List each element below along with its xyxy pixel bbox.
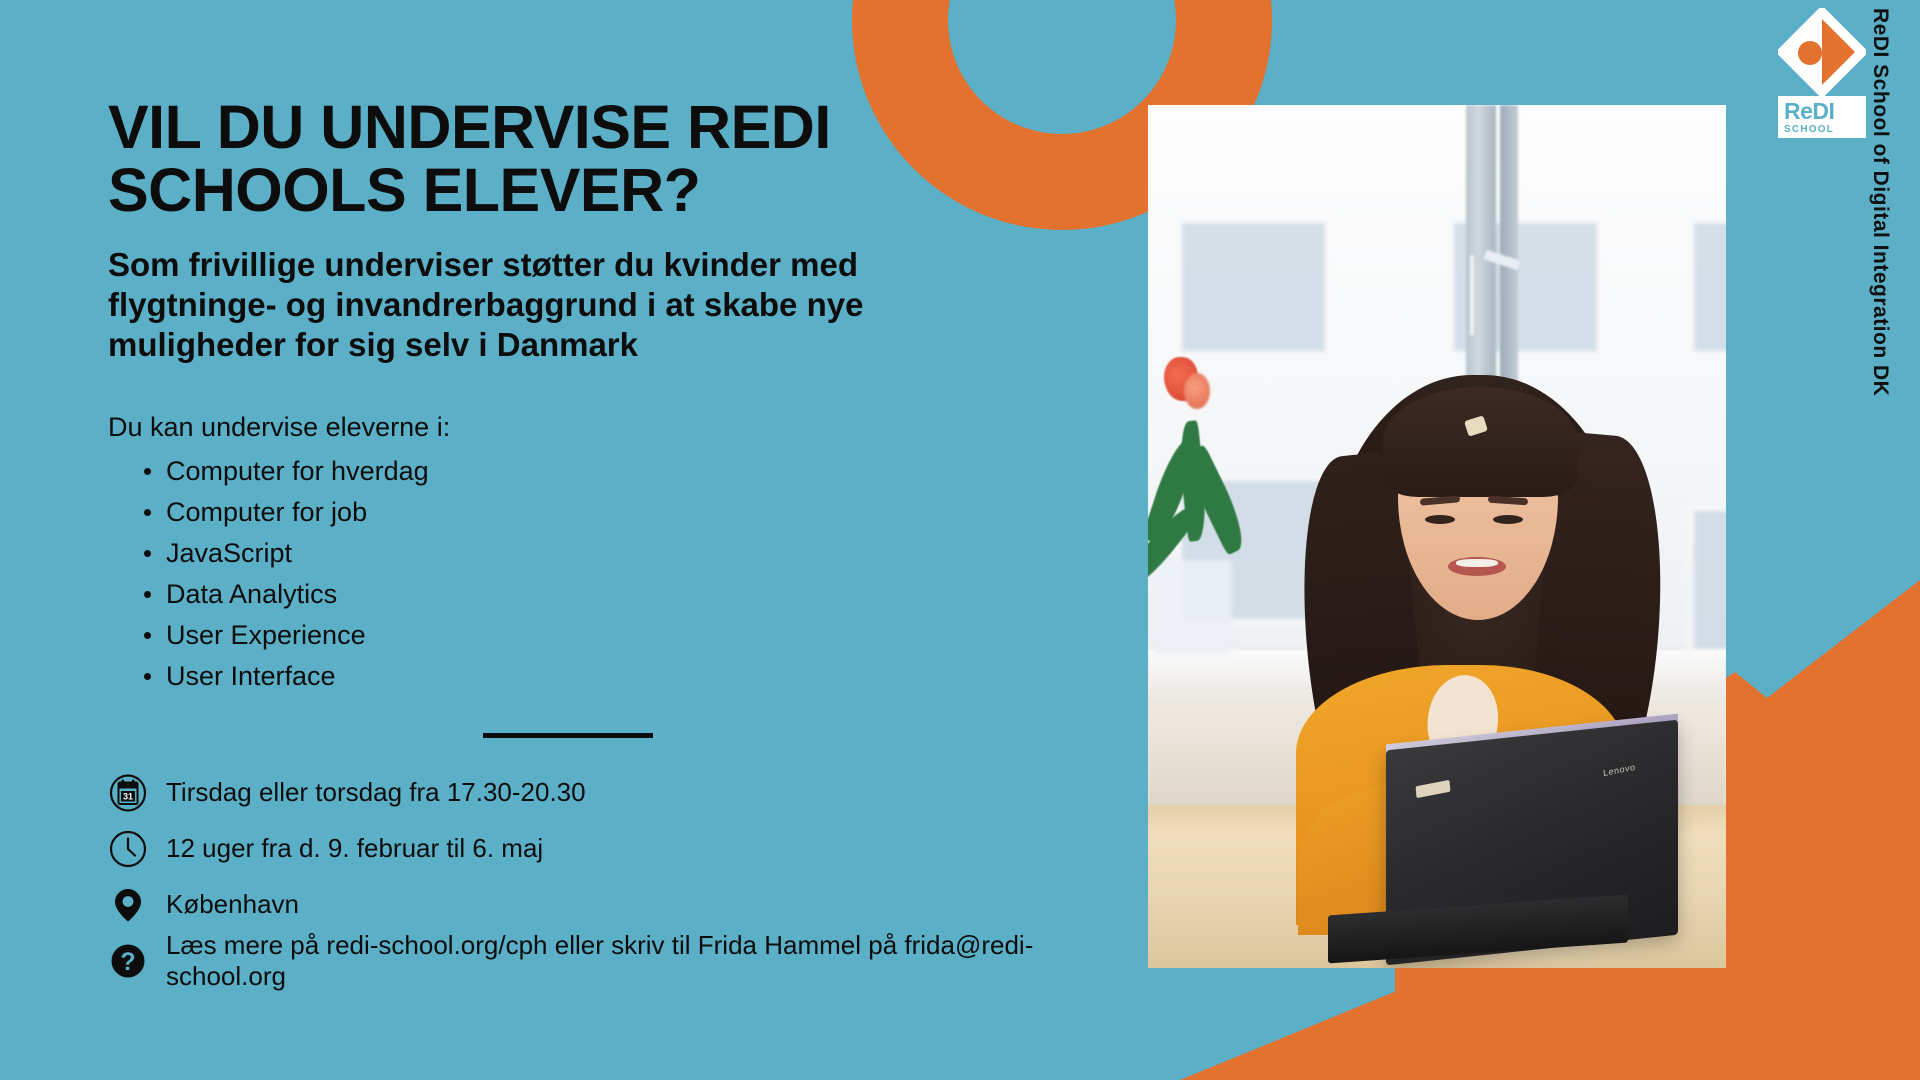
logo-diamond-mark bbox=[1778, 8, 1866, 96]
poster-content: VIL DU UNDERVISE REDI SCHOOLS ELEVER? So… bbox=[108, 96, 1068, 996]
topics-list: Computer for hverdag Computer for job Ja… bbox=[138, 451, 1068, 697]
list-item: JavaScript bbox=[138, 533, 1068, 574]
info-row-text: København bbox=[166, 889, 299, 920]
list-item: User Experience bbox=[138, 615, 1068, 656]
logo-wordmark: ReDI bbox=[1784, 100, 1866, 123]
logo-subtext: SCHOOL bbox=[1784, 125, 1866, 135]
calendar-icon-day: 31 bbox=[123, 792, 133, 802]
list-item: Computer for hverdag bbox=[138, 451, 1068, 492]
info-row-text: Tirsdag eller torsdag fra 17.30-20.30 bbox=[166, 777, 586, 808]
hero-photo: Lenovo bbox=[1148, 105, 1726, 968]
info-row-text: 12 uger fra d. 9. februar til 6. maj bbox=[166, 833, 543, 864]
calendar-icon: 31 bbox=[108, 773, 148, 813]
info-row-schedule: 31 Tirsdag eller torsdag fra 17.30-20.30 bbox=[108, 772, 1068, 814]
vertical-tagline: ReDI School of Digital Integration DK bbox=[1868, 8, 1892, 396]
info-row-location: København bbox=[108, 884, 1068, 926]
redi-school-logo: ReDI SCHOOL bbox=[1778, 8, 1866, 138]
clock-icon bbox=[108, 829, 148, 869]
info-row-duration: 12 uger fra d. 9. februar til 6. maj bbox=[108, 828, 1068, 870]
info-row-text: Læs mere på redi-school.org/cph eller sk… bbox=[166, 930, 1068, 992]
list-item: Data Analytics bbox=[138, 574, 1068, 615]
info-block: 31 Tirsdag eller torsdag fra 17.30-20.30… bbox=[108, 772, 1068, 982]
list-item: User Interface bbox=[138, 656, 1068, 697]
subheading: Som frivillige underviser støtter du kvi… bbox=[108, 245, 988, 366]
logo-wordmark-block: ReDI SCHOOL bbox=[1778, 96, 1866, 138]
section-divider bbox=[483, 733, 653, 738]
svg-text:?: ? bbox=[120, 948, 135, 976]
page-title: VIL DU UNDERVISE REDI SCHOOLS ELEVER? bbox=[108, 96, 968, 223]
info-row-contact: ? Læs mere på redi-school.org/cph eller … bbox=[108, 940, 1068, 982]
poster-canvas: Lenovo VIL DU UNDERVISE REDI SCHOOLS ELE… bbox=[0, 0, 1920, 1080]
list-item: Computer for job bbox=[138, 492, 1068, 533]
topics-lead-in: Du kan undervise eleverne i: bbox=[108, 410, 1068, 445]
question-mark-icon: ? bbox=[108, 941, 148, 981]
location-pin-icon bbox=[108, 885, 148, 925]
